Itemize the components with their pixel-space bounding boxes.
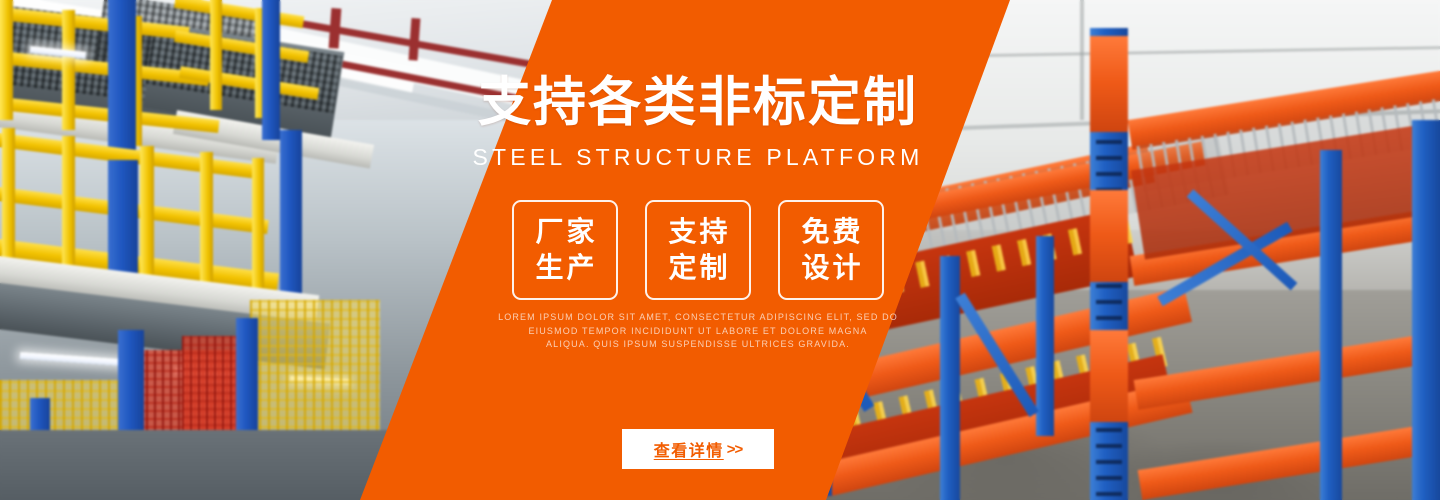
feature-badge-manufacturer: 厂家 生产 — [512, 200, 618, 300]
feature-badge-line1: 厂家 — [532, 214, 597, 250]
chevron-right-double-icon: >> — [727, 441, 743, 458]
cta-container: 查看详情 >> — [0, 429, 1418, 469]
feature-badge-list: 厂家 生产 支持 定制 免费 设计 — [0, 200, 1418, 300]
view-details-label: 查看详情 — [654, 437, 724, 461]
page-title: 支持各类非标定制 — [0, 76, 1418, 129]
feature-badge-line2: 生产 — [532, 250, 597, 286]
feature-badge-line1: 免费 — [798, 214, 863, 250]
description-line-1: LOREM IPSUM DOLOR SIT AMET, CONSECTETUR … — [0, 311, 1418, 325]
description-line-2: EIUSMOD TEMPOR INCIDIDUNT UT LABORE ET D… — [0, 325, 1418, 339]
view-details-button[interactable]: 查看详情 >> — [622, 429, 774, 469]
feature-badge-line2: 设计 — [798, 250, 863, 286]
feature-badge-line2: 定制 — [665, 250, 730, 286]
banner-content: 支持各类非标定制 STEEL STRUCTURE PLATFORM 厂家 生产 … — [0, 0, 1440, 500]
page-subtitle: STEEL STRUCTURE PLATFORM — [0, 146, 1418, 169]
promo-banner: 支持各类非标定制 STEEL STRUCTURE PLATFORM 厂家 生产 … — [0, 0, 1440, 500]
description-line-3: ALIQUA. QUIS IPSUM SUSPENDISSE ULTRICES … — [0, 338, 1418, 352]
feature-badge-customization: 支持 定制 — [645, 200, 751, 300]
description-text: LOREM IPSUM DOLOR SIT AMET, CONSECTETUR … — [0, 311, 1418, 352]
feature-badge-line1: 支持 — [665, 214, 730, 250]
feature-badge-free-design: 免费 设计 — [778, 200, 884, 300]
